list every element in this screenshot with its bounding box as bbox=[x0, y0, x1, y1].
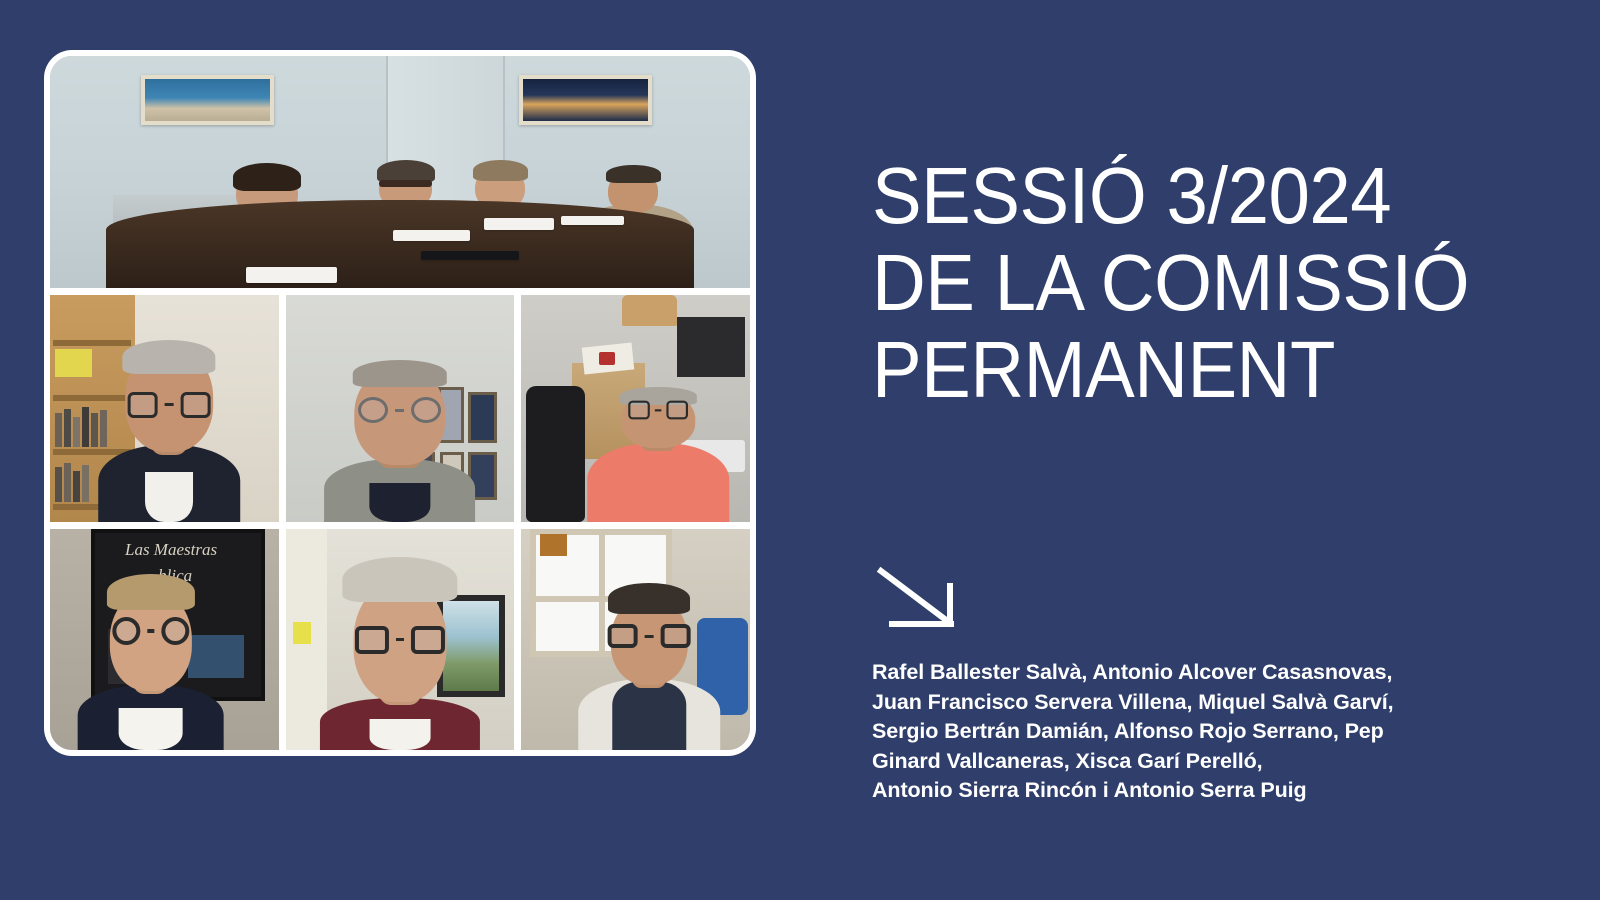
webcam-scene bbox=[286, 529, 515, 750]
tile-participant-6[interactable] bbox=[521, 529, 750, 750]
webcam-scene bbox=[521, 295, 750, 523]
office-chair bbox=[526, 386, 585, 523]
desk-lamp bbox=[622, 295, 677, 327]
text-column: SESSIÓ 3/2024 DE LA COMISSIÓ PERMANENT R… bbox=[872, 0, 1572, 900]
monitor bbox=[677, 317, 746, 376]
tile-participant-5[interactable] bbox=[286, 529, 515, 750]
red-sticker bbox=[599, 352, 615, 366]
participant-body bbox=[320, 578, 480, 750]
paper-sheet bbox=[561, 216, 624, 225]
paper-sheet bbox=[484, 218, 554, 230]
webcam-scene bbox=[521, 529, 750, 750]
video-grid: Las Maestras blica bbox=[50, 56, 750, 750]
paper-sheet bbox=[393, 230, 470, 242]
arrow-down-right-icon bbox=[872, 562, 958, 634]
tile-participant-2[interactable] bbox=[286, 295, 515, 523]
participant-body bbox=[325, 372, 476, 522]
tile-participant-4[interactable]: Las Maestras blica bbox=[50, 529, 279, 750]
tile-participant-1[interactable] bbox=[50, 295, 279, 523]
tile-boardroom[interactable] bbox=[50, 56, 750, 288]
eyeglasses-icon bbox=[355, 626, 445, 654]
laptop bbox=[421, 251, 519, 260]
webcam-scene bbox=[286, 295, 515, 523]
eyeglasses-icon bbox=[629, 400, 689, 419]
attendees-list: Rafel Ballester Salvà, Antonio Alcover C… bbox=[872, 658, 1512, 806]
participant-body bbox=[579, 596, 721, 751]
page-title: SESSIÓ 3/2024 DE LA COMISSIÓ PERMANENT bbox=[872, 152, 1486, 413]
window-shelf-item bbox=[540, 534, 567, 556]
slide-root: Las Maestras blica bbox=[0, 0, 1600, 900]
video-conference-frame: Las Maestras blica bbox=[44, 50, 756, 756]
eyeglasses-icon bbox=[112, 617, 189, 645]
eyeglasses-icon bbox=[608, 624, 691, 648]
participant-body bbox=[98, 354, 240, 522]
video-grid-row bbox=[50, 295, 750, 523]
participant-body bbox=[77, 587, 223, 750]
paper-sheet bbox=[246, 267, 337, 283]
webcam-scene bbox=[50, 295, 279, 523]
video-grid-row: Las Maestras blica bbox=[50, 529, 750, 750]
wall-picture-left bbox=[141, 75, 274, 126]
eyeglasses-icon bbox=[358, 397, 441, 423]
wall-picture-right bbox=[519, 75, 652, 126]
participant-body bbox=[588, 395, 730, 522]
boardroom-scene bbox=[50, 56, 750, 288]
eyeglasses-icon bbox=[127, 392, 210, 418]
yellow-note bbox=[293, 622, 311, 644]
video-grid-row bbox=[50, 56, 750, 288]
meeting-table bbox=[106, 200, 694, 288]
tile-participant-3[interactable] bbox=[521, 295, 750, 523]
webcam-scene: Las Maestras blica bbox=[50, 529, 279, 750]
